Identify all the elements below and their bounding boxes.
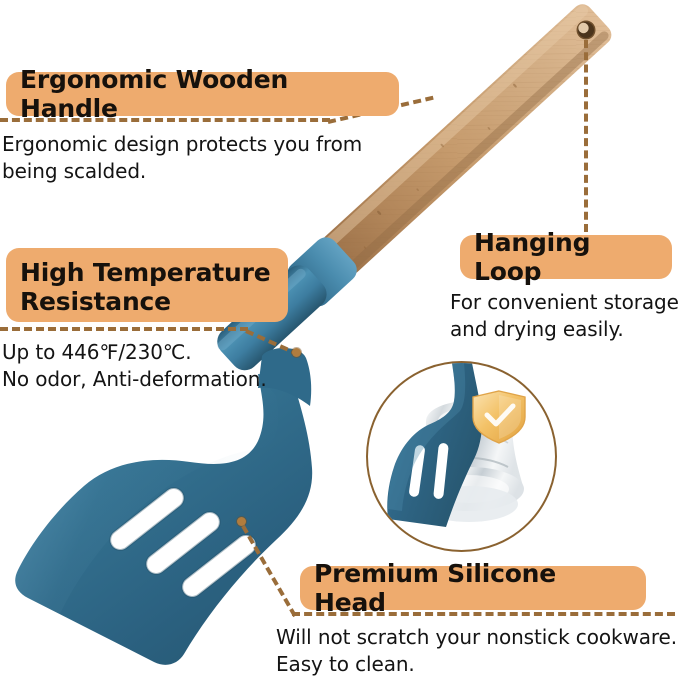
- description-high-temperature-resistance: Up to 446℉/230℃. No odor, Anti-deformati…: [2, 339, 322, 392]
- description-hanging-loop: For convenient storage and drying easily…: [450, 289, 679, 342]
- description-ergonomic-wooden-handle: Ergonomic design protects you from being…: [2, 131, 402, 184]
- connector-temp-horizontal: [0, 327, 248, 331]
- badge-high-temperature-resistance[interactable]: High Temperature Resistance: [6, 248, 288, 322]
- connector-head-diagonal: [241, 525, 296, 617]
- hanging-loop-hole: [577, 21, 596, 40]
- badge-premium-silicone-head[interactable]: Premium Silicone Head: [300, 566, 646, 610]
- badge-label: Hanging Loop: [474, 228, 658, 286]
- connector-loop-vertical: [584, 40, 588, 232]
- infographic-canvas: Ergonomic Wooden Handle Ergonomic design…: [0, 0, 679, 681]
- blade-slots: [106, 484, 260, 601]
- spatula-blade: [15, 348, 312, 665]
- badge-hanging-loop[interactable]: Hanging Loop: [460, 235, 672, 279]
- badge-label: Ergonomic Wooden Handle: [20, 65, 385, 123]
- badge-label: High Temperature Resistance: [20, 258, 274, 317]
- inset-illustration: [368, 363, 551, 546]
- badge-label: Premium Silicone Head: [314, 559, 632, 617]
- silicone-head-detail-circle: [366, 361, 557, 552]
- description-premium-silicone-head: Will not scratch your nonstick cookware.…: [276, 624, 679, 677]
- badge-ergonomic-wooden-handle[interactable]: Ergonomic Wooden Handle: [6, 72, 399, 116]
